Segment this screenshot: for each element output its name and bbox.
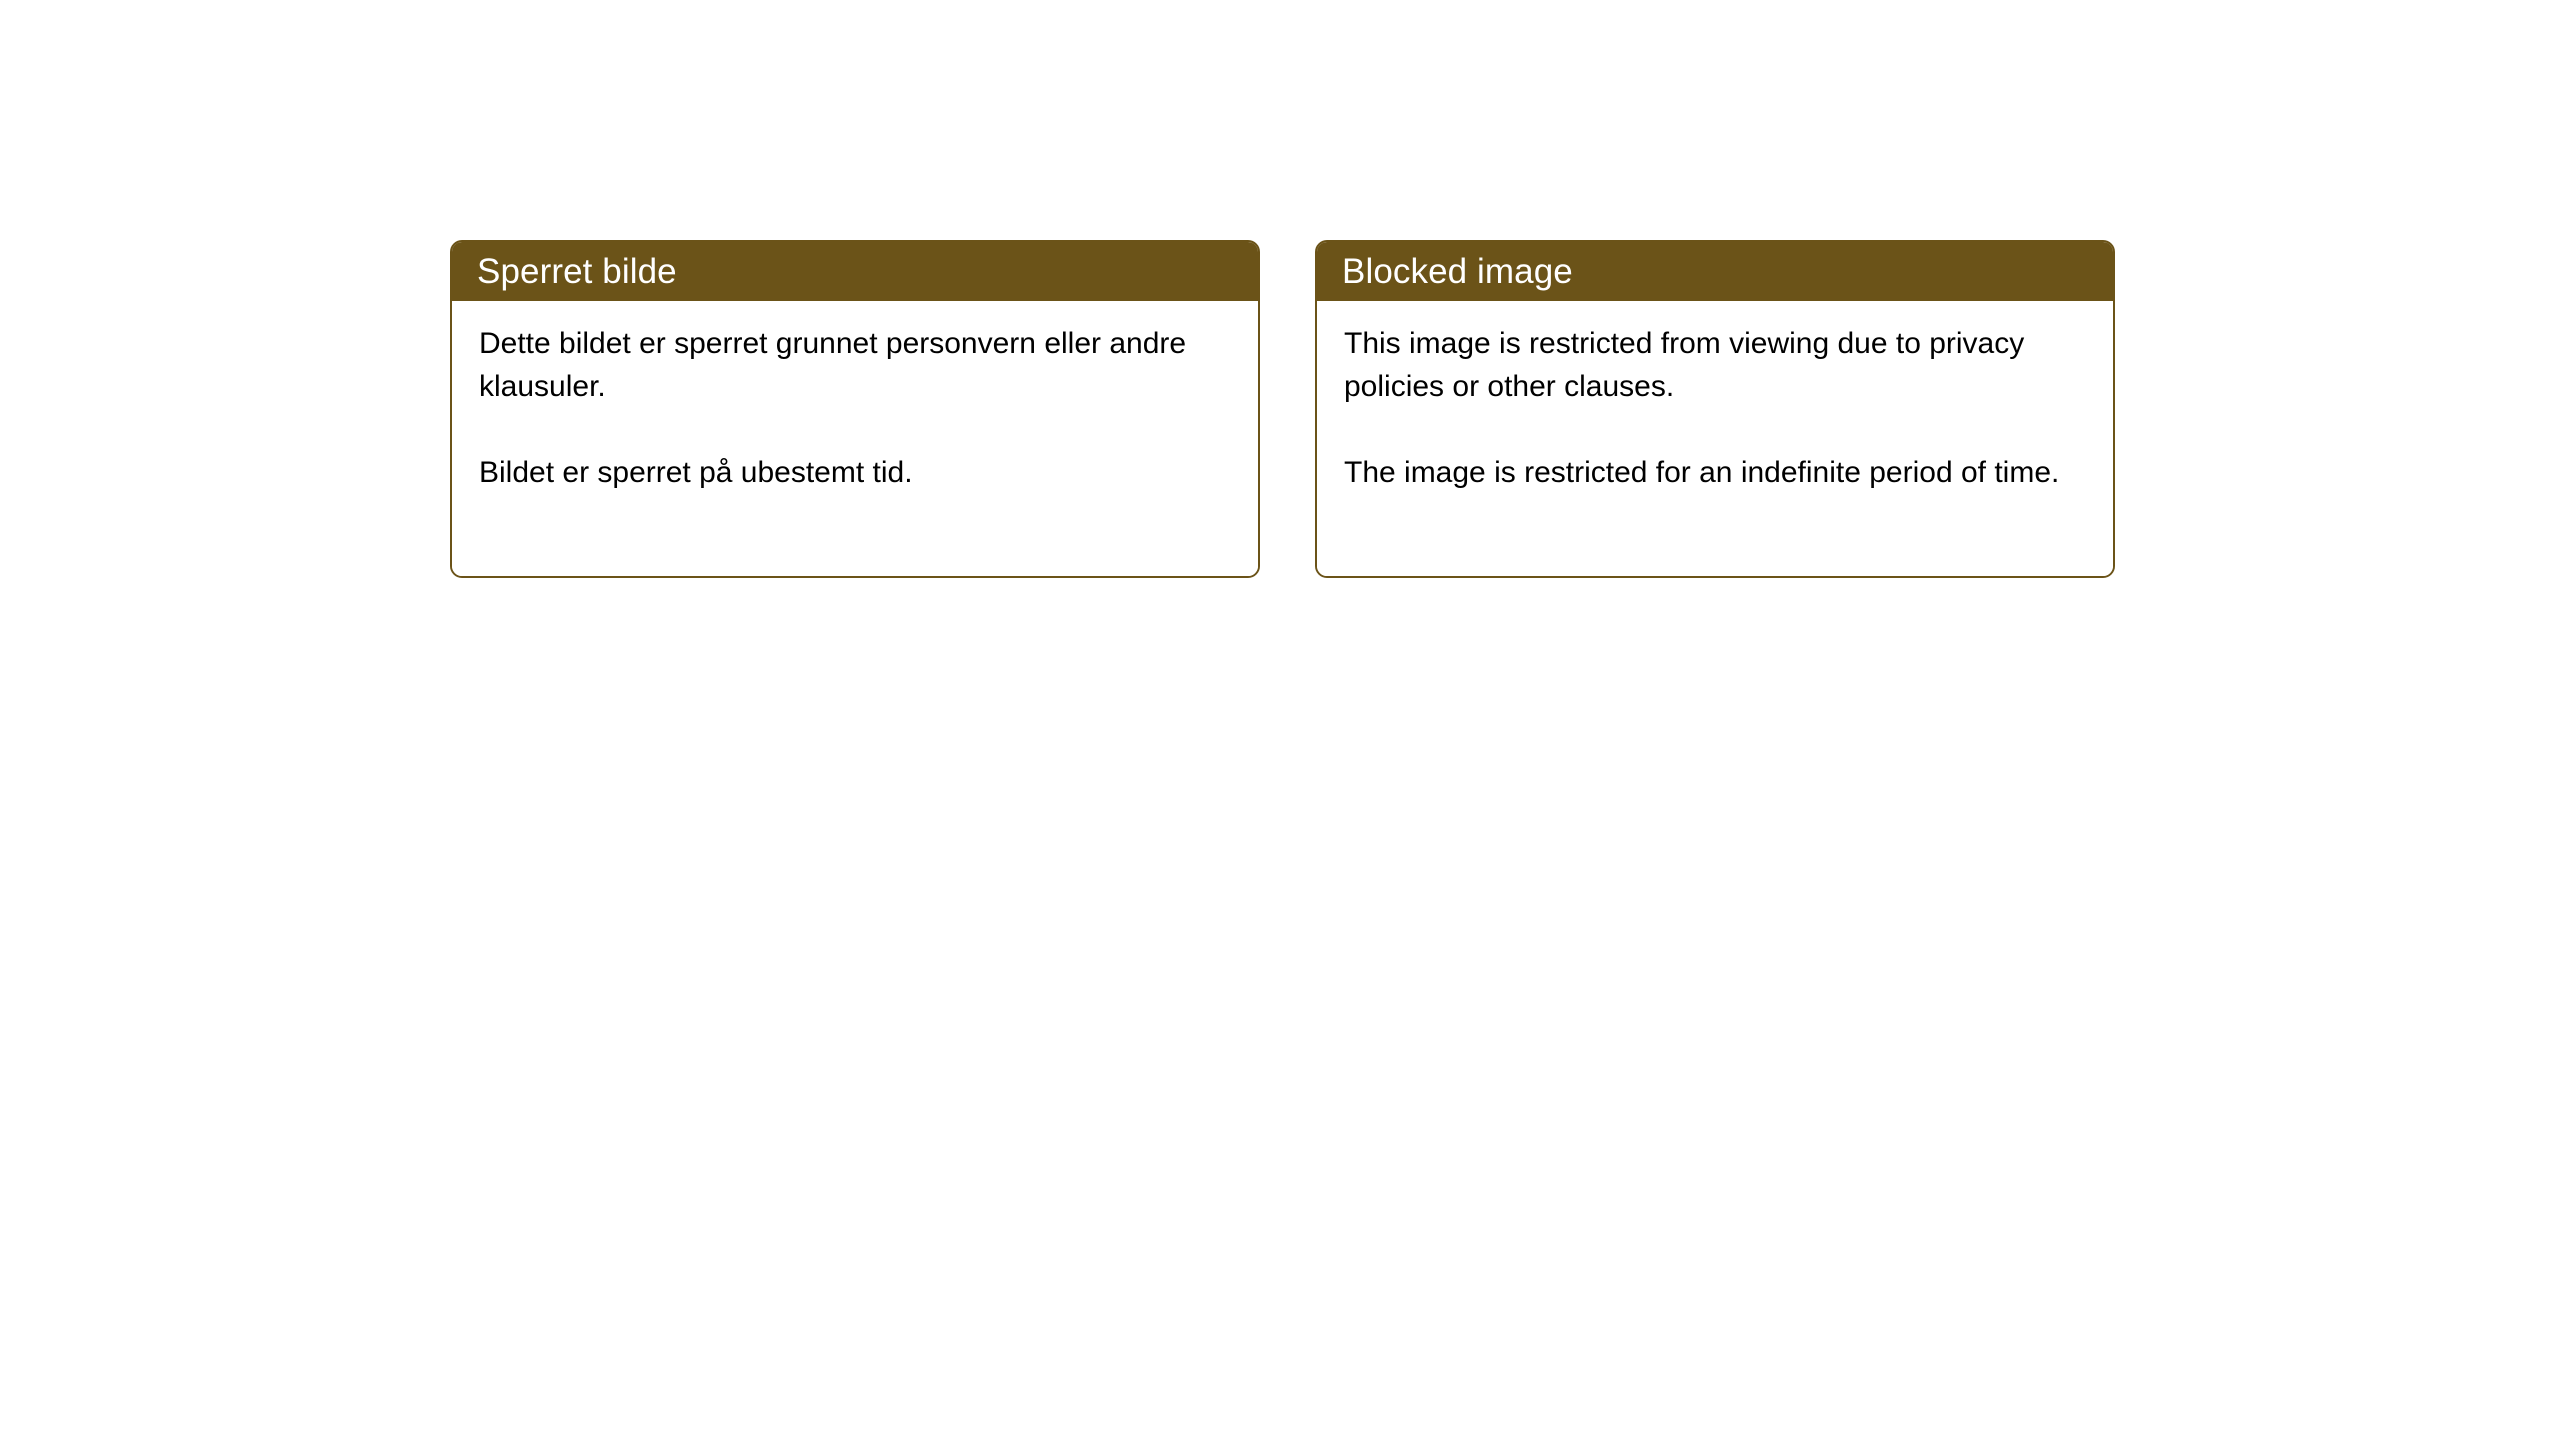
blocked-image-notice-area: Sperret bilde Dette bildet er sperret gr… — [0, 0, 2560, 1440]
card-paragraph-norwegian-2: Bildet er sperret på ubestemt tid. — [479, 451, 1230, 494]
card-paragraph-english-2: The image is restricted for an indefinit… — [1344, 451, 2085, 494]
blocked-image-card-norwegian: Sperret bilde Dette bildet er sperret gr… — [450, 240, 1260, 578]
blocked-image-card-english: Blocked image This image is restricted f… — [1315, 240, 2115, 578]
card-title-english: Blocked image — [1342, 254, 1573, 289]
card-title-norwegian: Sperret bilde — [477, 254, 677, 289]
card-header-english: Blocked image — [1317, 242, 2113, 301]
card-header-norwegian: Sperret bilde — [452, 242, 1258, 301]
card-paragraph-english-1: This image is restricted from viewing du… — [1344, 322, 2085, 408]
card-paragraph-norwegian-1: Dette bildet er sperret grunnet personve… — [479, 322, 1230, 408]
card-body-english: This image is restricted from viewing du… — [1317, 301, 2113, 576]
card-body-norwegian: Dette bildet er sperret grunnet personve… — [452, 301, 1258, 576]
